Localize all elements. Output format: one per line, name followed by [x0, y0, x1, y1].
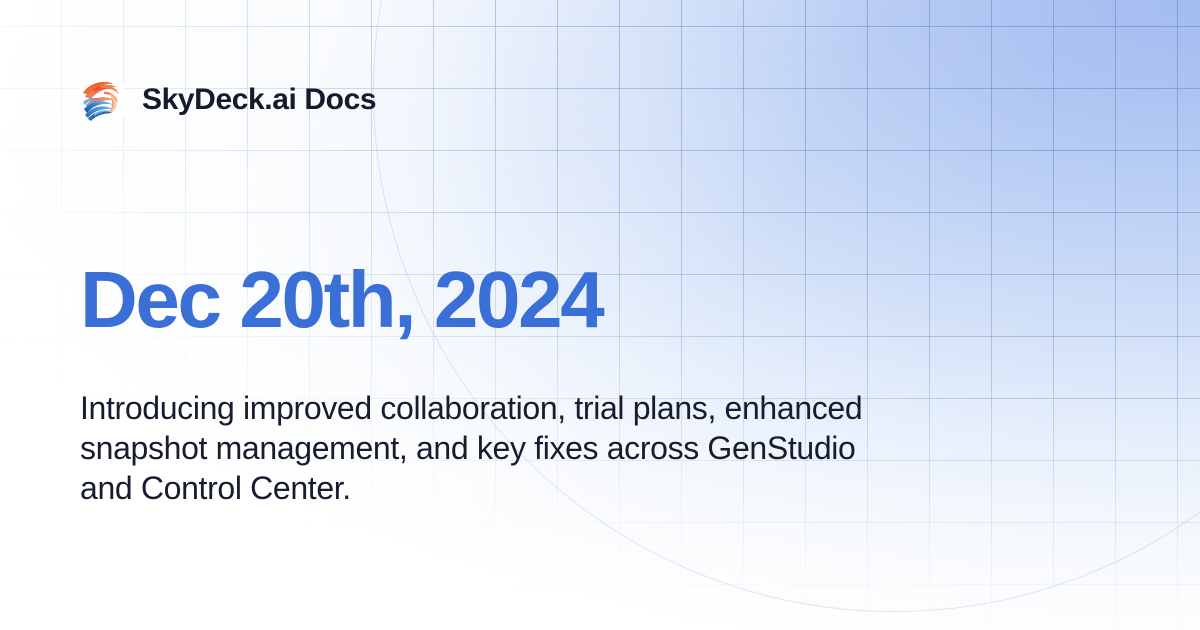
page-description: Introducing improved collaboration, tria…	[80, 388, 870, 508]
brand-name-label: SkyDeck.ai Docs	[142, 85, 376, 115]
brand-lockup: SkyDeck.ai Docs	[80, 78, 376, 122]
og-share-card: SkyDeck.ai Docs Dec 20th, 2024 Introduci…	[0, 0, 1200, 630]
skydeck-wave-face-logo-icon	[80, 78, 124, 122]
page-title: Dec 20th, 2024	[80, 258, 602, 343]
card-content: SkyDeck.ai Docs Dec 20th, 2024 Introduci…	[0, 0, 1200, 630]
